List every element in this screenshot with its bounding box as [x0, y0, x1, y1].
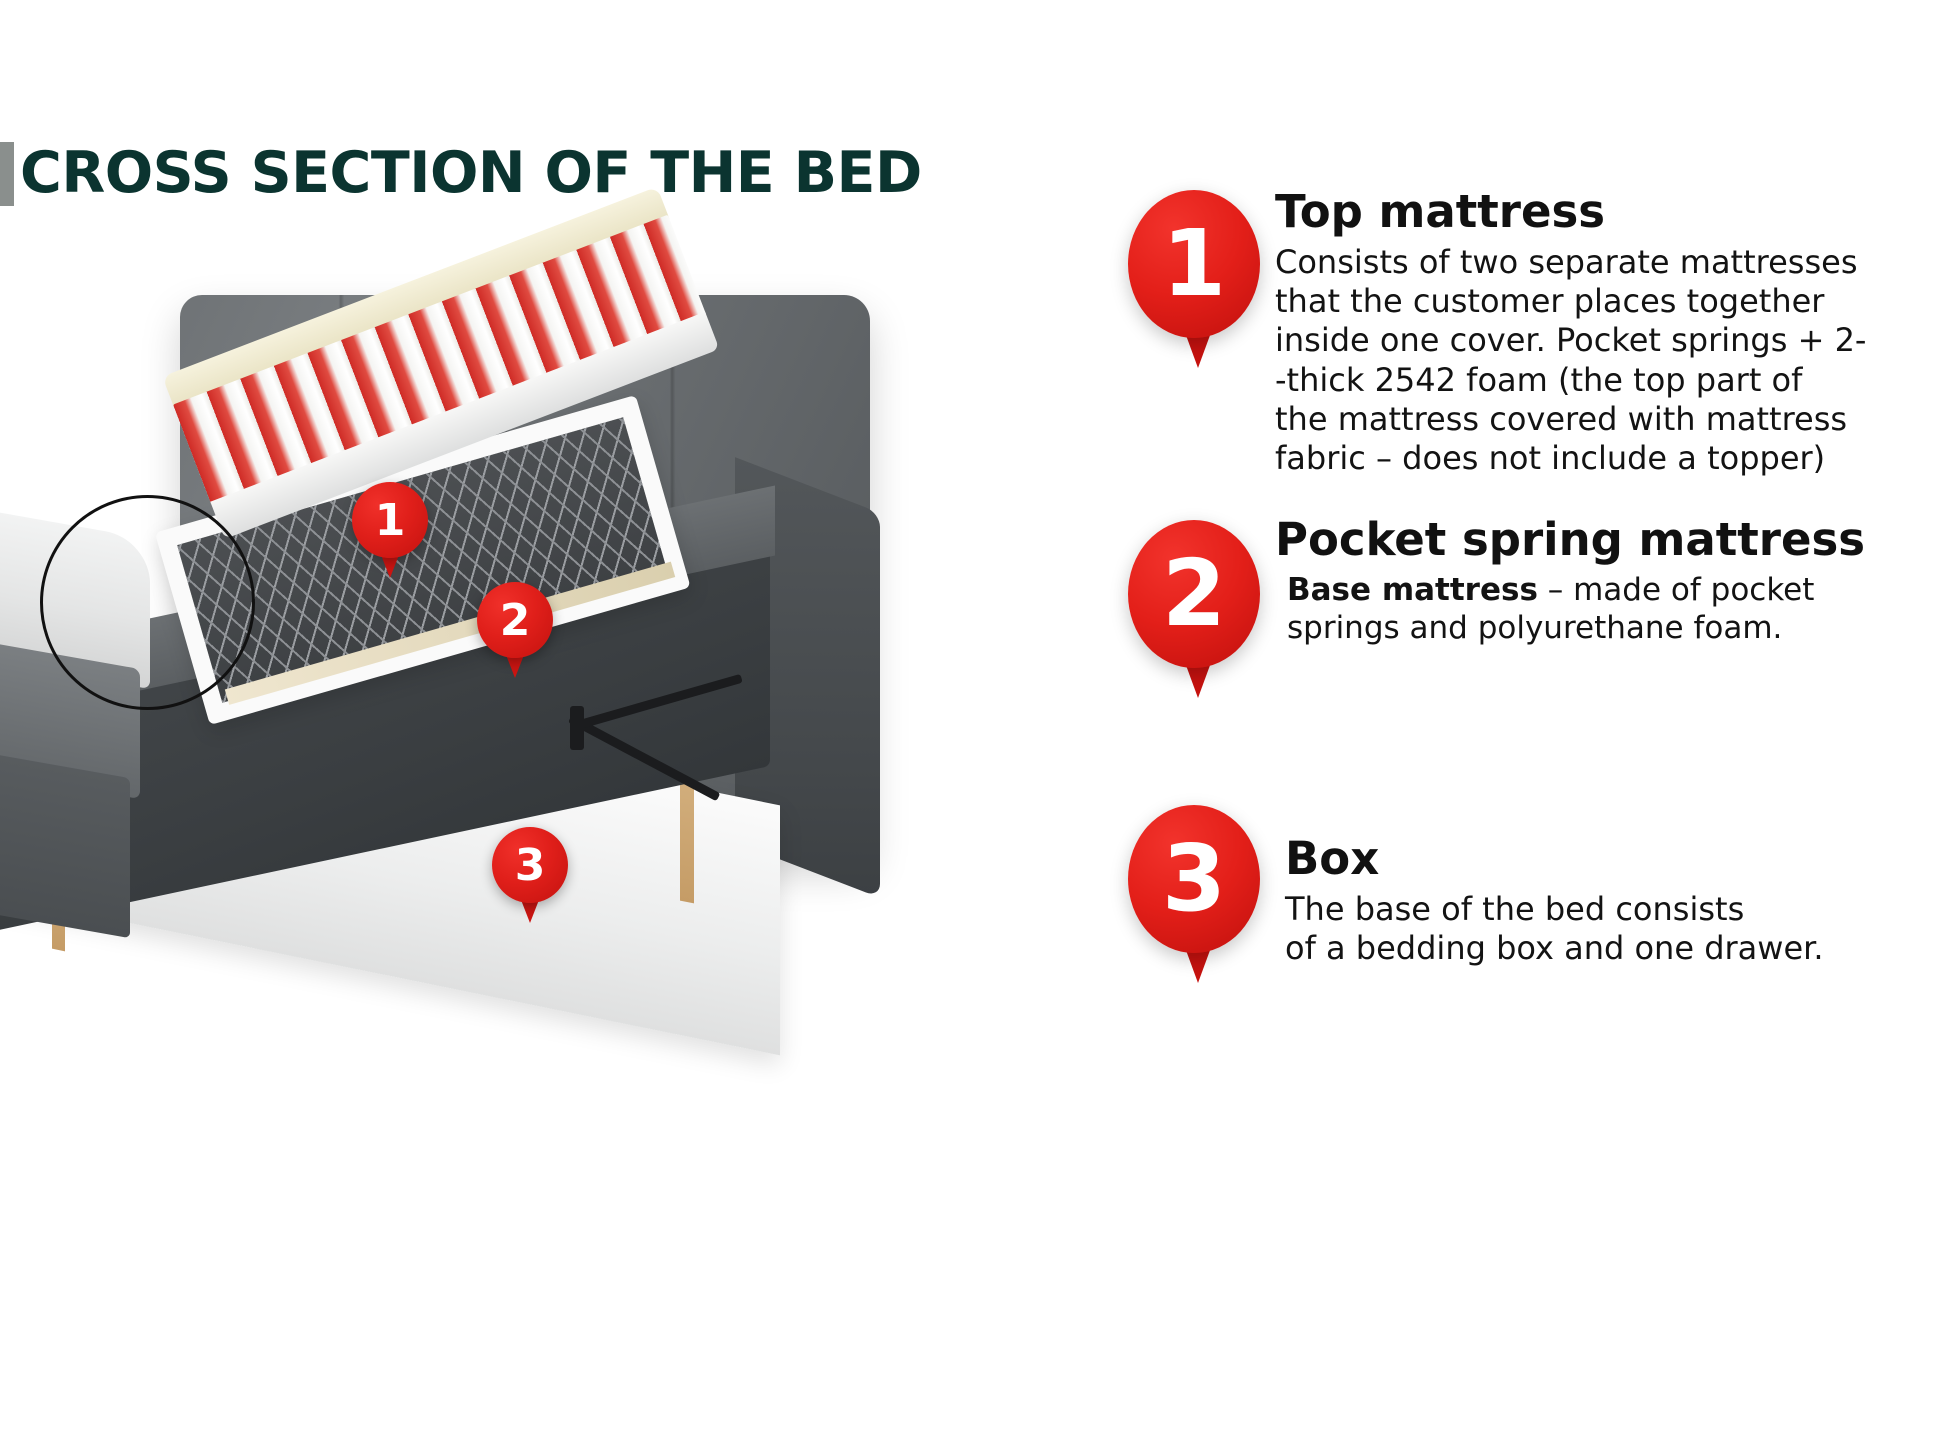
- page-title: CROSS SECTION OF THE BED: [20, 140, 922, 206]
- marker-number-1: 1: [352, 482, 428, 558]
- callout-item-1[interactable]: 1 Top mattress Consists of two separate …: [1110, 180, 1940, 479]
- marker-number-3: 3: [492, 827, 568, 903]
- callout-text-1: Consists of two separate mattresses that…: [1275, 243, 1940, 479]
- infographic-page: CROSS SECTION OF THE BED 1: [0, 0, 1940, 1455]
- bed-illustration: 1 2 3: [0, 270, 1000, 1000]
- callout-pin-1[interactable]: 1: [1110, 180, 1275, 479]
- callout-body-2: Pocket spring mattress Base mattress – m…: [1275, 510, 1940, 690]
- title-accent-bar: [0, 142, 14, 206]
- lift-mechanism: [570, 700, 770, 820]
- callout-text-2: Base mattress – made of pocket springs a…: [1275, 571, 1940, 647]
- callout-pin-2[interactable]: 2: [1110, 510, 1275, 690]
- callout-item-2[interactable]: 2 Pocket spring mattress Base mattress –…: [1110, 510, 1940, 690]
- callout-body-3: Box The base of the bed consists of a be…: [1275, 795, 1940, 975]
- detail-circle-annotation: [40, 495, 255, 710]
- callout-number-2: 2: [1128, 520, 1260, 668]
- marker-number-2: 2: [477, 582, 553, 658]
- callout-heading-2: Pocket spring mattress: [1275, 516, 1940, 565]
- callout-text-3: The base of the bed consists of a beddin…: [1285, 890, 1940, 969]
- callout-item-3[interactable]: 3 Box The base of the bed consists of a …: [1110, 795, 1940, 975]
- callout-number-3: 3: [1128, 805, 1260, 953]
- callout-body-1: Top mattress Consists of two separate ma…: [1275, 180, 1940, 479]
- callout-heading-3: Box: [1285, 835, 1940, 884]
- callout-pin-3[interactable]: 3: [1110, 795, 1275, 975]
- callout-number-1: 1: [1128, 190, 1260, 338]
- callout-text-2-lead: Base mattress: [1287, 572, 1538, 608]
- callout-heading-1: Top mattress: [1275, 188, 1940, 237]
